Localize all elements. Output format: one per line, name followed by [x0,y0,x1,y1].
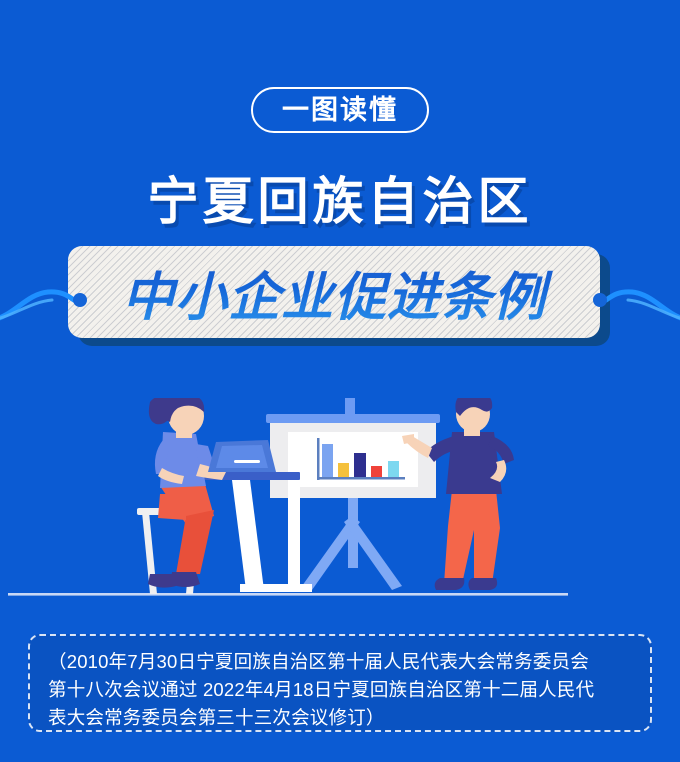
chart-bar [388,461,399,477]
chart-bar [338,463,349,477]
footnote-panel: （2010年7月30日宁夏回族自治区第十届人民代表大会常务委员会 第十八次会议通… [28,634,652,732]
subtitle-panel: 中小企业促进条例 [68,246,600,338]
footnote-line: 表大会常务委员会第三十三次会议修订） [48,704,632,732]
badge-label: 一图读懂 [282,97,398,124]
ground-line [8,593,568,596]
chart-y-axis [317,438,320,480]
footnote-line: （2010年7月30日宁夏回族自治区第十届人民代表大会常务委员会 [48,648,632,676]
chart-bar [322,444,333,477]
chart-bar [371,466,382,477]
subtitle-label: 中小企业促进条例 [68,246,600,338]
illustration-scene [0,398,680,603]
chart-bar [354,453,366,477]
infographic-poster: 一图读懂 宁夏回族自治区 中小企业促进条例 [0,0,680,762]
chart-x-axis [317,477,405,480]
ribbon-swoosh-left-icon [0,258,106,338]
footnote-line: 第十八次会议通过 2022年4月18日宁夏回族自治区第十二届人民代 [48,676,632,704]
read-in-one-image-badge: 一图读懂 [251,87,429,133]
page-title: 宁夏回族自治区 [0,172,680,232]
board-top-bar [266,414,440,423]
ribbon-swoosh-right-icon [574,258,680,338]
